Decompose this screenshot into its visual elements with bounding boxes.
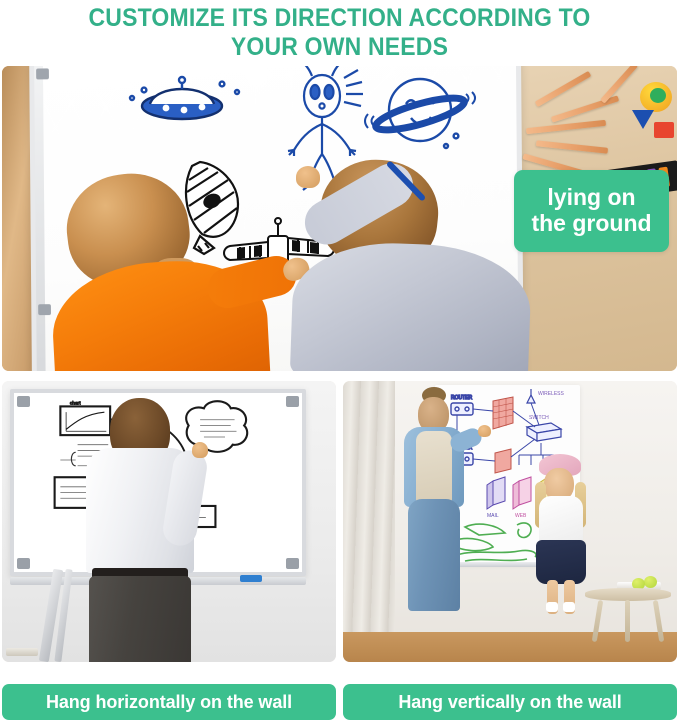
svg-text:MAIL: MAIL — [487, 513, 499, 519]
panel-hang-vertically: ROUTER ROUTER — [343, 381, 677, 662]
apple — [644, 576, 657, 588]
girl-figure — [531, 454, 591, 612]
girl-sock-left — [546, 602, 558, 612]
scene-woman-girl-whiteboard: ROUTER ROUTER — [343, 381, 677, 662]
badge-line-2: the ground — [531, 210, 651, 236]
page-title-line-1: CUSTOMIZE ITS DIRECTION ACCORDING TO — [27, 4, 652, 33]
child-right-grey-shirt — [292, 158, 552, 371]
panel-hang-horizontally: chart — [2, 381, 336, 662]
curtain — [343, 381, 395, 662]
man-trousers — [89, 576, 191, 662]
scene-man-whiteboard: chart — [2, 381, 336, 662]
caption-hang-horizontally: Hang horizontally on the wall — [2, 684, 336, 720]
page-title: CUSTOMIZE ITS DIRECTION ACCORDING TO YOU… — [0, 0, 679, 62]
man-figure — [84, 398, 196, 662]
smiling-planet-icon — [365, 79, 475, 148]
woman-figure — [398, 387, 468, 611]
toy-triangle-blue — [632, 110, 654, 129]
table-top — [585, 588, 671, 601]
child-left-orange-shirt — [57, 174, 287, 371]
svg-text:SWITCH: SWITCH — [529, 415, 549, 421]
table-leg — [625, 600, 630, 642]
toy-green-detail — [650, 88, 666, 103]
badge-lying-on-the-ground: lying on the ground — [514, 170, 669, 252]
side-table — [585, 582, 671, 640]
svg-text:WIRELESS: WIRELESS — [538, 391, 565, 397]
table-leg — [653, 600, 665, 642]
table-leg — [592, 600, 604, 642]
firewall-brick — [493, 397, 513, 473]
badge-line-1: lying on — [547, 184, 635, 210]
child-right-hand — [296, 166, 320, 188]
scene-kids-floor: lying on the ground — [2, 66, 677, 371]
floor-object — [6, 648, 38, 656]
blue-eraser — [240, 575, 262, 582]
girl-sock-right — [563, 602, 575, 612]
page-title-line-2: YOUR OWN NEEDS — [27, 33, 652, 62]
panel-grid: lying on the ground — [0, 66, 679, 662]
woman-jeans — [408, 499, 460, 611]
girl-navy-skirt — [536, 540, 586, 584]
woman-vest — [416, 431, 452, 509]
girl-white-shirt — [539, 496, 583, 546]
svg-text:chart: chart — [70, 400, 81, 406]
caption-hang-vertically: Hang vertically on the wall — [343, 684, 677, 720]
toy-block-red — [654, 122, 674, 138]
svg-text:WEB: WEB — [515, 513, 527, 519]
panel-lying-on-the-ground: lying on the ground — [2, 66, 677, 371]
man-hand — [192, 442, 208, 458]
woman-hand — [478, 425, 491, 437]
ufo-flying-saucer-icon — [130, 77, 239, 119]
child-right-shirt — [290, 240, 533, 371]
